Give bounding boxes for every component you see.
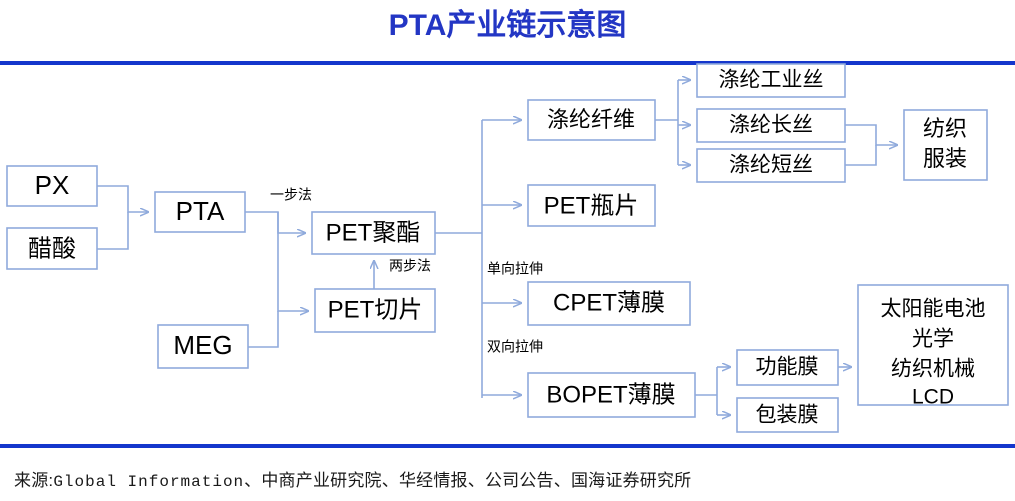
edge-label-uniaxial: 单向拉伸	[487, 261, 543, 277]
node-px[interactable]: PX	[7, 166, 97, 206]
node-textile-apparel[interactable]: 纺织 服装	[904, 110, 987, 180]
edge-px-pta	[97, 186, 148, 212]
flowchart-canvas: PX 醋酸 PTA MEG PET聚酯	[0, 62, 1015, 444]
node-staple-fiber-label: 涤纶短丝	[729, 154, 813, 177]
node-meg-label: MEG	[173, 330, 232, 360]
source-rest: 、中商产业研究院、华经情报、公司公告、国海证券研究所	[244, 471, 691, 490]
node-layer: PX 醋酸 PTA MEG PET聚酯	[7, 64, 1008, 432]
node-pet-polyester-label: PET聚酯	[326, 219, 421, 246]
node-pet-bottle-chip[interactable]: PET瓶片	[528, 185, 655, 226]
edge-label-two-step: 两步法	[389, 258, 431, 274]
node-pet-chip-label: PET切片	[328, 296, 423, 323]
edge-pta-petpoly	[245, 212, 305, 233]
footer-divider	[0, 444, 1015, 448]
source-note: 来源:Global Information、中商产业研究院、华经情报、公司公告、…	[14, 466, 691, 491]
node-cpet-film[interactable]: CPET薄膜	[528, 282, 690, 325]
node-end-applications-line4: LCD	[912, 386, 954, 409]
node-textile-apparel-line1: 纺织	[923, 116, 967, 141]
source-prefix: 来源:	[14, 471, 53, 490]
node-acetic-acid-label: 醋酸	[28, 235, 76, 262]
edge-filyarn-textile	[845, 125, 897, 145]
edge-label-biaxial: 双向拉伸	[487, 339, 543, 355]
diagram-page: PTA产业链示意图	[0, 0, 1015, 501]
node-industrial-yarn[interactable]: 涤纶工业丝	[697, 64, 845, 97]
node-meg[interactable]: MEG	[158, 325, 248, 368]
node-polyester-fiber[interactable]: 涤纶纤维	[528, 100, 655, 140]
node-end-applications-line3: 纺织机械	[891, 358, 975, 381]
node-functional-film-label: 功能膜	[756, 356, 819, 379]
node-polyester-fiber-label: 涤纶纤维	[547, 107, 635, 132]
node-pta[interactable]: PTA	[155, 192, 245, 232]
node-staple-fiber[interactable]: 涤纶短丝	[697, 149, 845, 182]
node-bopet-film[interactable]: BOPET薄膜	[528, 373, 695, 417]
flowchart-svg: PX 醋酸 PTA MEG PET聚酯	[0, 62, 1015, 444]
node-acetic-acid[interactable]: 醋酸	[7, 228, 97, 269]
node-bopet-film-label: BOPET薄膜	[546, 381, 675, 408]
node-pet-bottle-chip-label: PET瓶片	[544, 192, 639, 219]
page-title: PTA产业链示意图	[0, 4, 1015, 48]
node-px-label: PX	[35, 170, 70, 200]
edge-meg-petchip	[248, 311, 278, 347]
node-functional-film[interactable]: 功能膜	[737, 350, 838, 385]
node-filament-yarn-label: 涤纶长丝	[729, 114, 813, 137]
node-textile-apparel-line2: 服装	[923, 146, 967, 171]
node-end-applications-line1: 太阳能电池	[881, 298, 986, 321]
node-pta-label: PTA	[176, 196, 225, 226]
edge-pta-petchip	[278, 212, 308, 311]
node-pet-polyester[interactable]: PET聚酯	[312, 212, 435, 254]
node-cpet-film-label: CPET薄膜	[553, 289, 665, 316]
node-end-applications-line2: 光学	[912, 328, 954, 351]
source-provider: Global Information	[53, 473, 244, 491]
node-pet-chip[interactable]: PET切片	[315, 289, 435, 332]
node-end-applications[interactable]: 太阳能电池 光学 纺织机械 LCD	[858, 285, 1008, 409]
node-packaging-film[interactable]: 包装膜	[737, 398, 838, 432]
node-filament-yarn[interactable]: 涤纶长丝	[697, 109, 845, 142]
node-packaging-film-label: 包装膜	[756, 404, 819, 427]
edge-label-one-step: 一步法	[270, 187, 312, 203]
node-industrial-yarn-label: 涤纶工业丝	[719, 69, 824, 92]
edge-acetic-pta	[97, 212, 128, 249]
edge-staple-textile	[845, 145, 876, 165]
